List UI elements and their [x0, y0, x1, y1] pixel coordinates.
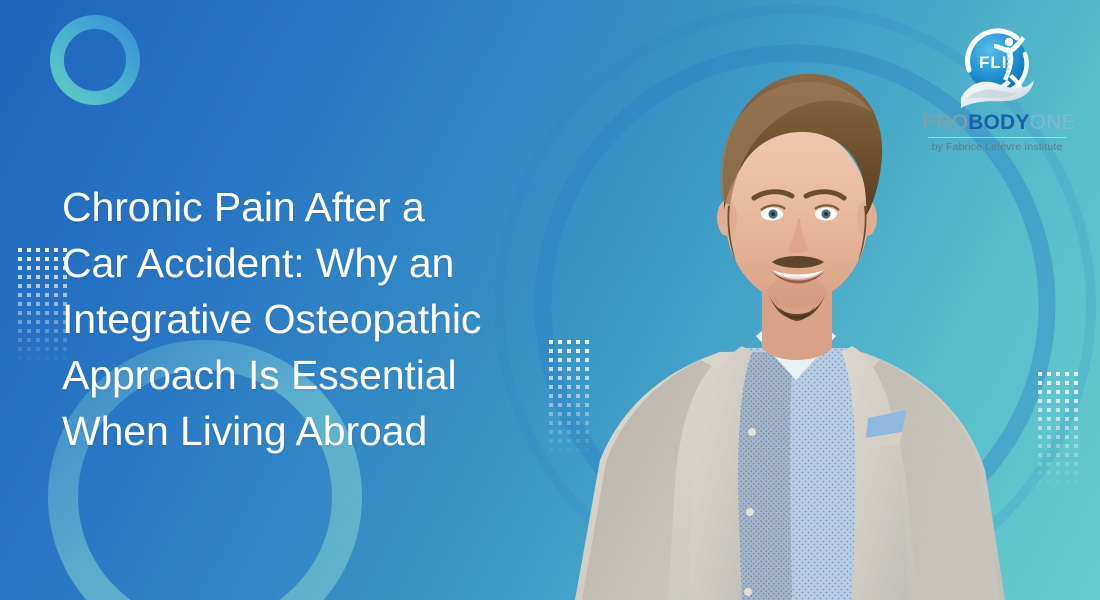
logo-divider	[928, 137, 1066, 138]
logo-word-body: BODY	[968, 111, 1029, 134]
logo-tagline: by Fabrice Lefèvre Institute	[922, 141, 1072, 153]
logo[interactable]: FLI PROBODYONE by Fabrice	[922, 26, 1072, 153]
logo-wordmark: PROBODYONE	[922, 112, 1072, 134]
fli-figure-in-hand-icon: FLI	[951, 26, 1043, 110]
logo-word-pro: PRO	[922, 111, 968, 134]
blog-banner: Chronic Pain After a Car Accident: Why a…	[0, 0, 1100, 600]
logo-word-one: ONE	[1030, 111, 1076, 134]
page-title: Chronic Pain After a Car Accident: Why a…	[62, 179, 582, 459]
svg-text:FLI: FLI	[979, 53, 1008, 72]
